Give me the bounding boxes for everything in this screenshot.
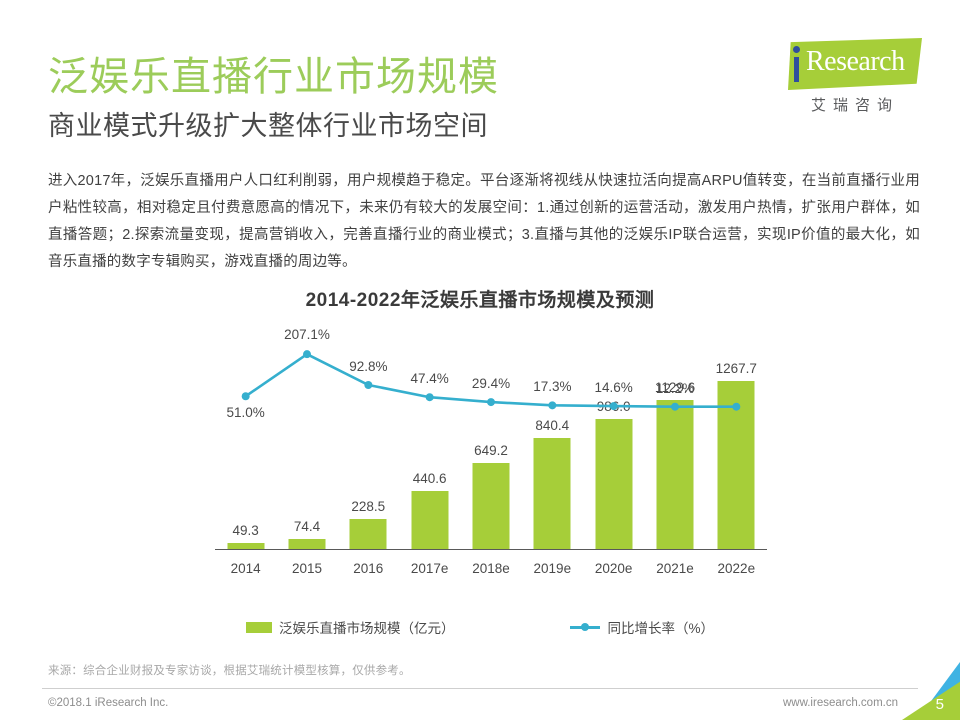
chart-plot-area: 49.374.4228.5440.6649.2840.4986.01129.61…	[215, 330, 767, 600]
growth-rate-value-label: 14.6%	[595, 380, 633, 395]
growth-rate-point[interactable]	[548, 401, 556, 409]
x-label-2014: 2014	[215, 561, 276, 576]
logo-chinese-name: 艾瑞咨询	[790, 94, 920, 115]
growth-rate-point[interactable]	[426, 393, 434, 401]
x-label-2022e: 2022e	[706, 561, 767, 576]
growth-rate-point[interactable]	[671, 403, 679, 411]
x-axis-category-labels: 2014201520162017e2018e2019e2020e2021e202…	[215, 554, 767, 576]
legend-item-market-size[interactable]: 泛娱乐直播市场规模（亿元）	[246, 617, 455, 637]
growth-rate-point[interactable]	[364, 381, 372, 389]
growth-rate-value-label: 12.2%	[656, 381, 694, 396]
legend-label-market-size: 泛娱乐直播市场规模（亿元）	[279, 617, 455, 637]
growth-rate-point[interactable]	[610, 402, 618, 410]
growth-rate-point[interactable]	[242, 392, 250, 400]
x-label-2019e: 2019e	[522, 561, 583, 576]
slide-header: 泛娱乐直播行业市场规模 商业模式升级扩大整体行业市场空间 Research 艾瑞…	[0, 0, 960, 150]
legend-label-growth-rate: 同比增长率（%）	[607, 617, 714, 637]
legend-bar-swatch-icon	[246, 622, 272, 633]
intro-paragraph: 进入2017年，泛娱乐直播用户人口红利削弱，用户规模趋于稳定。平台逐渐将视线从快…	[48, 168, 920, 276]
x-label-2017e: 2017e	[399, 561, 460, 576]
growth-rate-point[interactable]	[732, 403, 740, 411]
growth-rate-value-label: 51.0%	[227, 405, 265, 420]
legend-item-growth-rate[interactable]: 同比增长率（%）	[570, 617, 714, 637]
x-label-2016: 2016	[338, 561, 399, 576]
logo-i-stem-icon	[794, 57, 799, 82]
page-title: 泛娱乐直播行业市场规模	[48, 44, 499, 102]
chart-legend: 泛娱乐直播市场规模（亿元） 同比增长率（%）	[0, 617, 960, 637]
corner-decoration: 5	[902, 662, 960, 720]
x-label-2015: 2015	[276, 561, 337, 576]
iresearch-logo: Research 艾瑞咨询	[770, 38, 922, 116]
x-label-2018e: 2018e	[460, 561, 521, 576]
x-label-2020e: 2020e	[583, 561, 644, 576]
corner-green-triangle-icon	[902, 662, 960, 720]
source-note: 来源：综合企业财报及专家访谈，根据艾瑞统计模型核算，仅供参考。	[48, 662, 411, 678]
website-url: www.iresearch.com.cn	[783, 697, 898, 709]
page-number: 5	[936, 696, 944, 713]
x-label-2021e: 2021e	[644, 561, 705, 576]
growth-rate-value-label: 47.4%	[411, 371, 449, 386]
growth-rate-point[interactable]	[303, 350, 311, 358]
growth-rate-value-label: 17.3%	[533, 379, 571, 394]
growth-rate-value-label: 29.4%	[472, 376, 510, 391]
footer-divider	[42, 688, 918, 689]
legend-line-swatch-icon	[570, 622, 600, 633]
logo-i-dot-icon	[793, 46, 800, 53]
chart-container: 2014-2022年泛娱乐直播市场规模及预测 49.374.4228.5440.…	[0, 285, 960, 655]
chart-title: 2014-2022年泛娱乐直播市场规模及预测	[0, 285, 960, 312]
slide-page: 泛娱乐直播行业市场规模 商业模式升级扩大整体行业市场空间 Research 艾瑞…	[0, 0, 960, 720]
copyright-text: ©2018.1 iResearch Inc.	[48, 697, 168, 709]
growth-rate-point[interactable]	[487, 398, 495, 406]
growth-rate-value-label: 92.8%	[349, 359, 387, 374]
logo-wordmark: Research	[806, 46, 905, 78]
page-subtitle: 商业模式升级扩大整体行业市场空间	[48, 104, 488, 143]
growth-rate-value-label: 207.1%	[284, 327, 330, 342]
